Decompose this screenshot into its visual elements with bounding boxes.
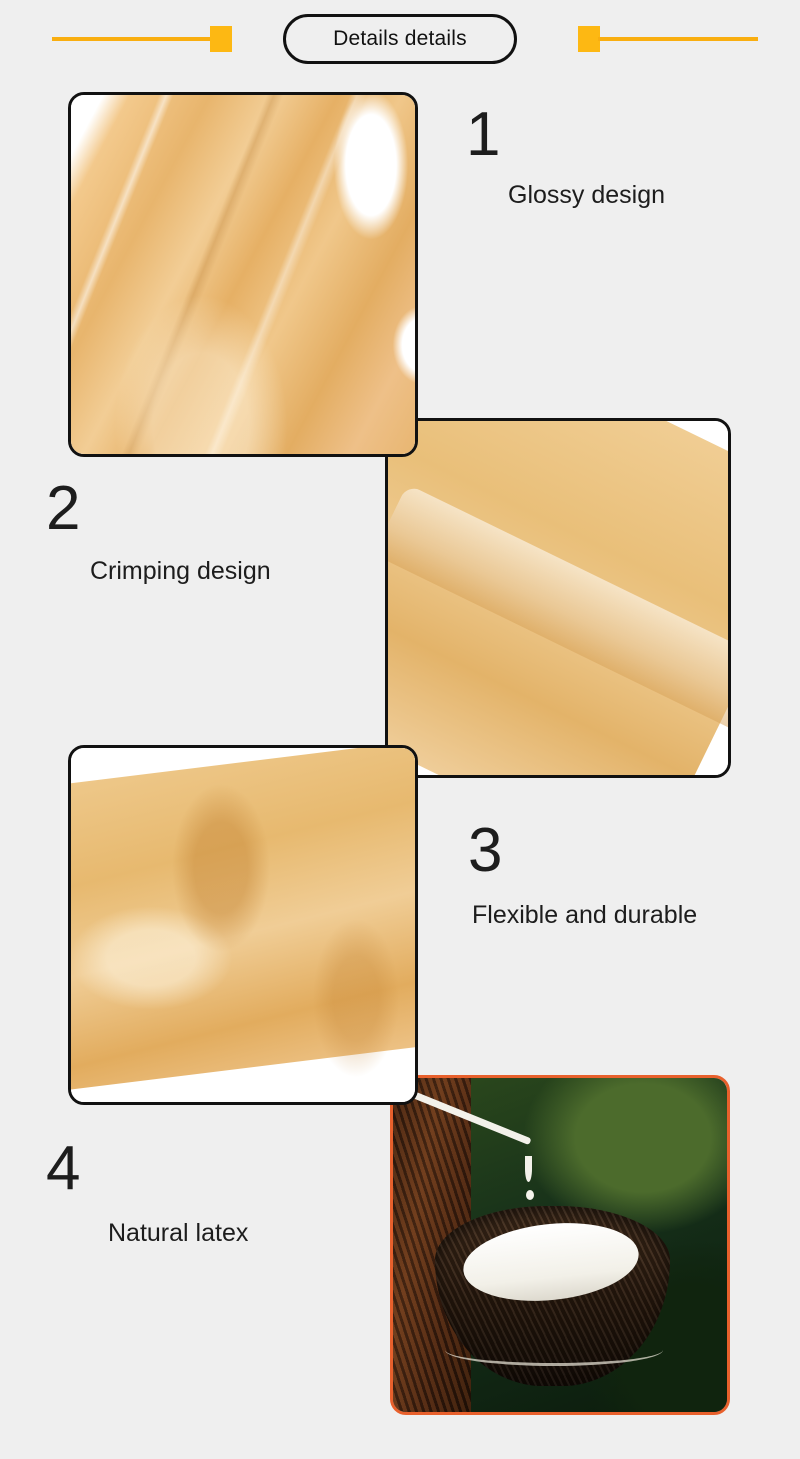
section-title-pill: Details details: [283, 14, 517, 64]
feature-label: Glossy design: [508, 181, 665, 210]
feature-label: Natural latex: [108, 1219, 248, 1248]
page-title: Details details: [333, 27, 467, 51]
glove-crimped-cuff-photo: [388, 421, 728, 775]
feature-number: 1: [466, 106, 665, 165]
feature-photo-card-2: [385, 418, 731, 778]
feature-label: Flexible and durable: [472, 901, 697, 930]
feature-caption-1: 1 Glossy design: [466, 106, 665, 210]
latex-drip: [525, 1156, 532, 1182]
feature-number: 2: [46, 480, 271, 539]
feature-photo-card-1: [68, 92, 418, 457]
product-detail-page: Details details 1 Glossy design 2: [0, 0, 800, 1459]
feature-photo-card-4: [390, 1075, 730, 1415]
section-header: Details details: [0, 0, 800, 78]
feature-photo-card-3: [68, 745, 418, 1105]
feature-caption-2: 2 Crimping design: [46, 480, 271, 586]
square-marker-icon: [210, 26, 232, 52]
feature-caption-3: 3 Flexible and durable: [468, 822, 697, 930]
horizontal-rule-icon: [598, 37, 758, 41]
glossy-glove-fingers-photo: [71, 95, 415, 454]
feature-number: 4: [46, 1140, 248, 1199]
rubber-tree-tapping-photo: [393, 1078, 727, 1412]
horizontal-rule-icon: [52, 37, 212, 41]
header-rule-right: [578, 0, 758, 78]
bowl-rim-highlight: [445, 1350, 663, 1366]
feature-number: 3: [468, 822, 697, 881]
header-rule-left: [52, 0, 232, 78]
latex-droplet: [526, 1190, 534, 1200]
square-marker-icon: [578, 26, 600, 52]
stretched-latex-band-photo: [71, 748, 415, 1102]
feature-label: Crimping design: [90, 557, 271, 586]
feature-caption-4: 4 Natural latex: [46, 1140, 248, 1248]
